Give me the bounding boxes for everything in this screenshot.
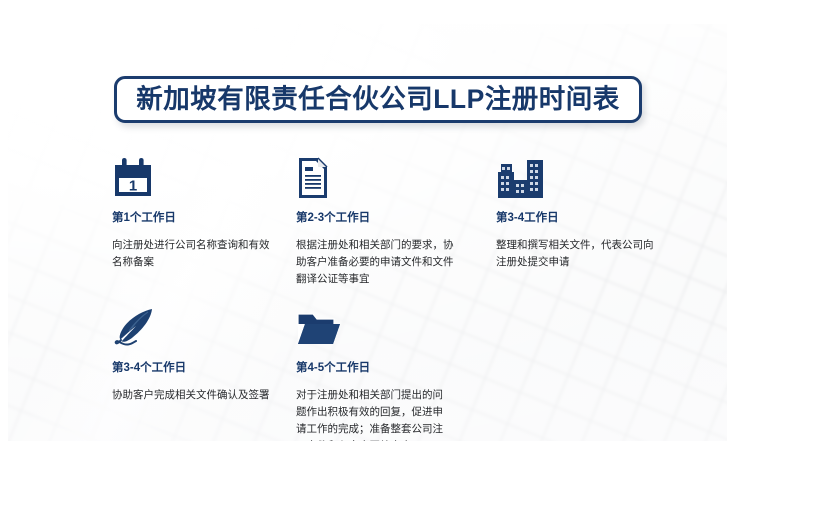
step-title: 第2-3个工作日 bbox=[296, 212, 472, 226]
quill-pen-icon bbox=[112, 304, 288, 350]
infographic-canvas: 新加坡有限责任合伙公司LLP注册时间表 1 第1个工作日 bbox=[8, 24, 727, 441]
steps-grid: 1 第1个工作日 向注册处进行公司名称查询和有效名称备案 bbox=[8, 154, 727, 441]
step-item-3: 第3-4工作日 整理和撰写相关文件，代表公司向注册处提交申请 bbox=[496, 154, 672, 271]
step-title: 第4-5个工作日 bbox=[296, 362, 472, 376]
step-description: 整理和撰写相关文件，代表公司向注册处提交申请 bbox=[496, 237, 662, 271]
page-title: 新加坡有限责任合伙公司LLP注册时间表 bbox=[114, 76, 642, 123]
buildings-icon bbox=[496, 154, 672, 200]
step-description: 向注册处进行公司名称查询和有效名称备案 bbox=[112, 237, 278, 271]
step-title: 第3-4个工作日 bbox=[112, 362, 288, 376]
step-item-2: 第2-3个工作日 根据注册处和相关部门的要求，协助客户准备必要的申请文件和文件翻… bbox=[296, 154, 472, 288]
step-title: 第1个工作日 bbox=[112, 212, 288, 226]
step-description: 对于注册处和相关部门提出的问题作出积极有效的回复，促进申请工作的完成；准备整套公… bbox=[296, 387, 448, 441]
step-item-4: 第3-4个工作日 协助客户完成相关文件确认及签署 bbox=[112, 304, 288, 404]
step-title: 第3-4工作日 bbox=[496, 212, 672, 226]
title-box: 新加坡有限责任合伙公司LLP注册时间表 bbox=[114, 76, 642, 123]
steps-row-1: 1 第1个工作日 向注册处进行公司名称查询和有效名称备案 bbox=[8, 154, 727, 294]
steps-row-2: 第3-4个工作日 协助客户完成相关文件确认及签署 第4-5个工作日 对于注册处和… bbox=[8, 304, 727, 441]
calendar-icon: 1 bbox=[112, 154, 288, 200]
step-item-1: 1 第1个工作日 向注册处进行公司名称查询和有效名称备案 bbox=[112, 154, 288, 271]
document-icon bbox=[296, 154, 472, 200]
folder-icon bbox=[296, 304, 472, 350]
title-text: 新加坡有限责任合伙公司LLP注册时间表 bbox=[136, 86, 620, 113]
calendar-day-number: 1 bbox=[129, 178, 137, 195]
step-description: 根据注册处和相关部门的要求，协助客户准备必要的申请文件和文件翻译公证等事宜 bbox=[296, 237, 462, 288]
step-description: 协助客户完成相关文件确认及签署 bbox=[112, 387, 272, 404]
step-item-5: 第4-5个工作日 对于注册处和相关部门提出的问题作出积极有效的回复，促进申请工作… bbox=[296, 304, 472, 441]
